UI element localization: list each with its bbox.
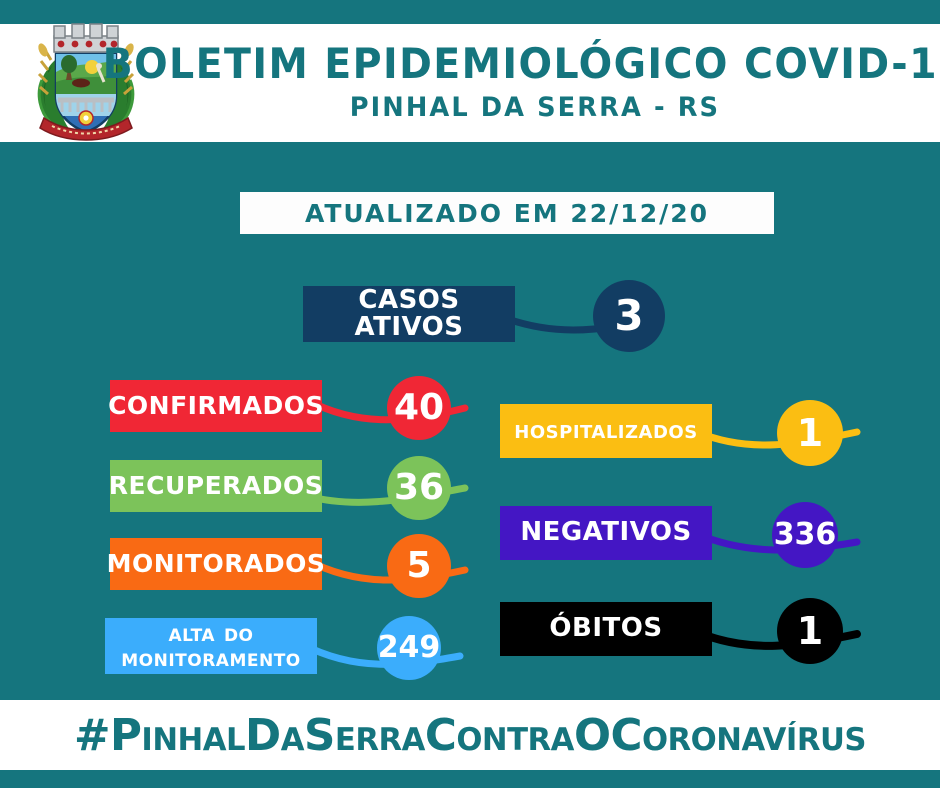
stat-row-confirmados: CONFIRMADOS 40: [110, 376, 460, 442]
stat-row-obitos: ÓBITOS 1: [500, 598, 850, 666]
stat-label-obitos-text: ÓBITOS: [549, 613, 662, 643]
stat-chip-monitorados: MONITORADOS: [110, 538, 322, 590]
stat-value-monitorados: 5: [406, 548, 431, 584]
stat-bubble-hospitalizados: 1: [777, 400, 843, 466]
page-title: BOLETIM EPIDEMIOLÓGICO COVID-19: [103, 43, 940, 86]
covid-bulletin-poster: BOLETIM EPIDEMIOLÓGICO COVID-19 PINHAL D…: [0, 0, 940, 788]
stat-row-negativos: NEGATIVOS 336: [500, 502, 850, 570]
stat-value-recuperados: 36: [394, 470, 444, 506]
stat-value-alta-do-monitoramento: 249: [378, 633, 441, 663]
stat-row-monitorados: MONITORADOS 5: [110, 534, 460, 600]
stat-label-recuperados: RECUPERADOS: [109, 473, 323, 499]
stat-label-obitos: ÓBITOS: [549, 615, 662, 642]
stat-bubble-confirmados: 40: [387, 376, 451, 440]
stat-chip-hospitalizados: Hospitalizados: [500, 404, 712, 458]
page-subtitle: PINHAL DA SERRA - RS: [350, 92, 720, 123]
stat-bubble-obitos: 1: [777, 598, 843, 664]
stat-value-negativos: 336: [774, 520, 837, 550]
stat-chip-recuperados: RECUPERADOS: [110, 460, 322, 512]
stat-chip-confirmados: CONFIRMADOS: [110, 380, 322, 432]
update-date-text: ATUALIZADO EM 22/12/20: [305, 199, 709, 228]
stat-bubble-recuperados: 36: [387, 456, 451, 520]
stat-bubble-negativos: 336: [772, 502, 838, 568]
bottom-teal-rule: [0, 770, 940, 788]
stat-label-alta-do-monitoramento: Alta do monitoramento: [121, 621, 301, 671]
stat-row-casos-ativos: CASOS ATIVOS 3: [303, 280, 668, 350]
header-band: BOLETIM EPIDEMIOLÓGICO COVID-19 PINHAL D…: [0, 24, 940, 142]
stat-value-obitos: 1: [797, 612, 823, 650]
stat-row-hospitalizados: Hospitalizados 1: [500, 400, 850, 468]
stat-label-negativos: NEGATIVOS: [520, 519, 691, 546]
stat-row-alta-do-monitoramento: Alta do monitoramento 249: [105, 614, 465, 684]
stat-label-confirmados: CONFIRMADOS: [108, 393, 324, 419]
header-titles: BOLETIM EPIDEMIOLÓGICO COVID-19 PINHAL D…: [150, 24, 920, 142]
stat-value-confirmados: 40: [394, 390, 444, 426]
stat-value-hospitalizados: 1: [797, 414, 823, 452]
stat-value-casos-ativos: 3: [614, 295, 643, 337]
stat-chip-obitos: ÓBITOS: [500, 602, 712, 656]
stat-label-monitorados: MONITORADOS: [107, 551, 326, 577]
update-banner: ATUALIZADO EM 22/12/20: [240, 192, 774, 234]
stat-bubble-casos-ativos: 3: [593, 280, 665, 352]
footer-band: #PinhalDaSerraContraOCoronavírus: [0, 700, 940, 770]
stat-chip-negativos: NEGATIVOS: [500, 506, 712, 560]
stat-bubble-alta-do-monitoramento: 249: [377, 616, 441, 680]
stat-label-hospitalizados: Hospitalizados: [514, 417, 697, 444]
stat-bubble-monitorados: 5: [387, 534, 451, 598]
stat-chip-casos-ativos: CASOS ATIVOS: [303, 286, 515, 342]
stat-chip-alta-do-monitoramento: Alta do monitoramento: [105, 618, 317, 674]
stat-row-recuperados: RECUPERADOS 36: [110, 456, 460, 522]
stat-label-casos-ativos: CASOS ATIVOS: [303, 287, 515, 342]
footer-hashtag: #PinhalDaSerraContraOCoronavírus: [74, 710, 866, 761]
